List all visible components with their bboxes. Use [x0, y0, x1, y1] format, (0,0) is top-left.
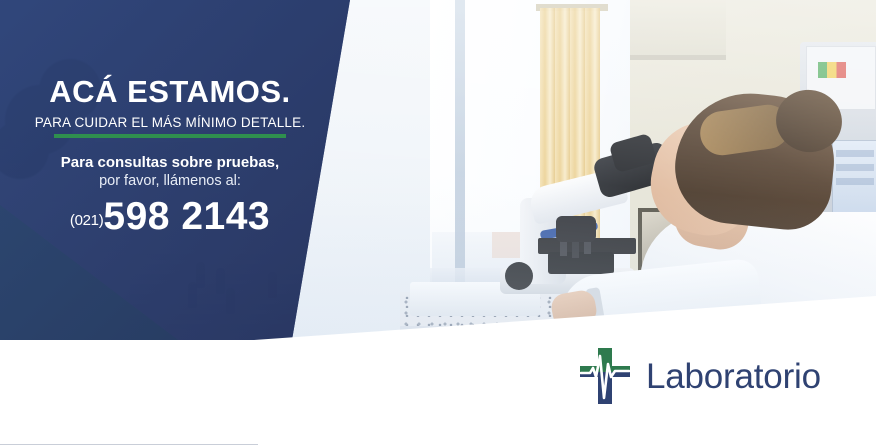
subtitle: PARA CUIDAR EL MÁS MÍNIMO DETALLE. [0, 115, 340, 130]
page-title: ACÁ ESTAMOS. [0, 76, 340, 109]
machine-status-label [818, 62, 846, 78]
machine-screen-row [836, 150, 874, 157]
headline-copy-block: ACÁ ESTAMOS. PARA CUIDAR EL MÁS MÍNIMO D… [0, 76, 340, 236]
machine-screen-row [836, 178, 874, 185]
phone-number: 598 2143 [103, 197, 270, 236]
microscope-lower-stage [548, 252, 614, 274]
cta-line-1: Para consultas sobre pruebas, [0, 154, 340, 171]
microscope-focus-knob [505, 262, 533, 290]
bottom-divider-line [0, 444, 258, 445]
microscope-nosepiece [556, 216, 596, 242]
phone-area-code: (021) [70, 212, 104, 236]
cta-line-2: por favor, llámenos al: [0, 173, 340, 189]
logo-wordmark: Laboratorio [646, 359, 821, 394]
laboratorio-promo-banner: ACÁ ESTAMOS. PARA CUIDAR EL MÁS MÍNIMO D… [0, 0, 876, 447]
machine-screen-row [836, 164, 874, 171]
phone-number-block[interactable]: (021) 598 2143 [0, 197, 340, 236]
brand-logo[interactable]: Laboratorio [576, 346, 821, 406]
green-divider [54, 134, 286, 138]
medical-cross-ekg-icon [576, 346, 634, 406]
